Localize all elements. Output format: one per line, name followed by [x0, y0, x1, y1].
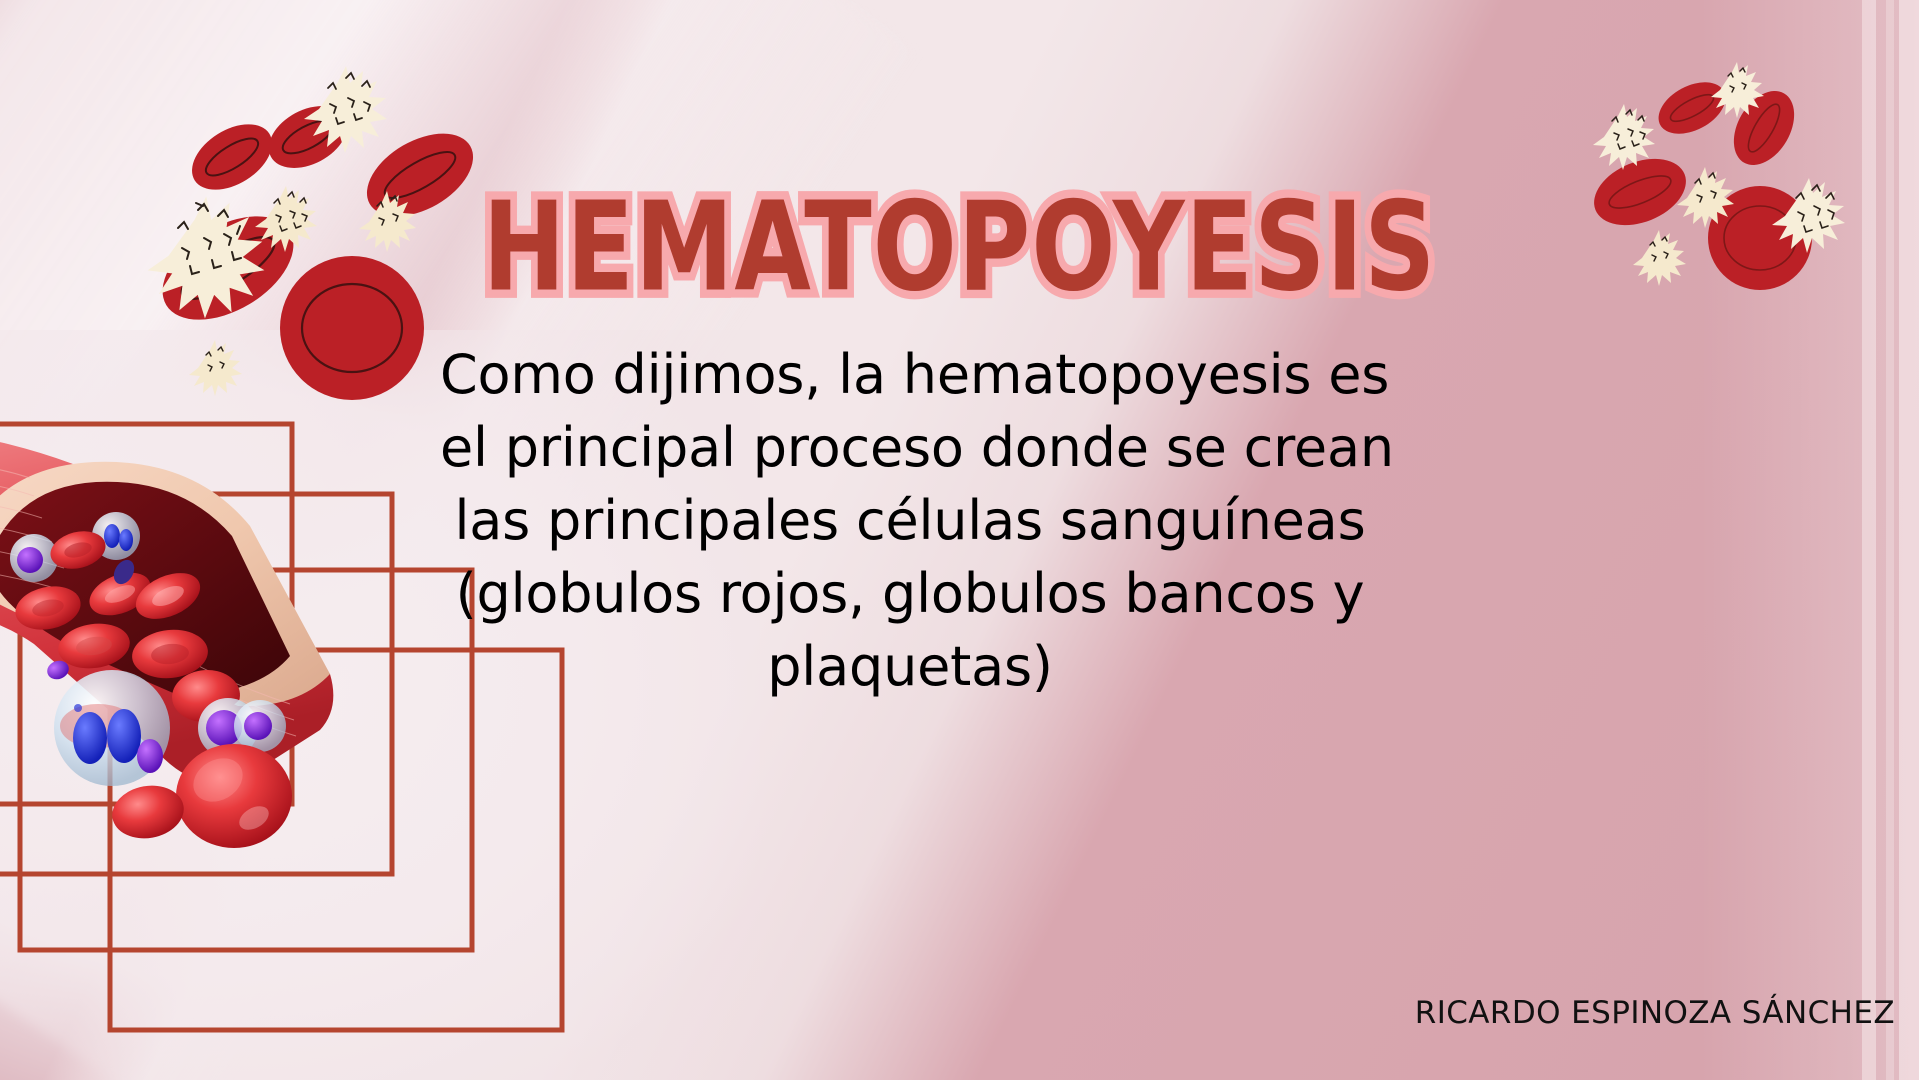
red-blood-cell-foreground	[176, 744, 292, 848]
white-blood-cell-icon	[189, 340, 242, 396]
white-blood-cell-foreground	[54, 670, 170, 786]
white-blood-cell	[10, 534, 58, 582]
page-title: HEMATOPOYESIS	[0, 186, 1919, 309]
body-paragraph: Como dijimos, la hematopoyesis es el pri…	[440, 338, 1380, 703]
body-line: (globulos rojos, globulos bancos y	[440, 557, 1380, 630]
body-line: Como dijimos, la hematopoyesis es	[440, 338, 1380, 411]
body-line: las principales células sanguíneas	[440, 484, 1380, 557]
body-line: plaquetas)	[440, 630, 1380, 703]
blood-vessel-illustration	[0, 408, 498, 868]
red-blood-cell-foreground	[108, 780, 188, 844]
presentation-slide: HEMATOPOYESIS Como dijimos, la hematopoy…	[0, 0, 1919, 1080]
white-blood-cell-foreground	[234, 700, 286, 752]
red-blood-cell-icon	[1650, 72, 1734, 145]
author-footer: RICARDO ESPINOZA SÁNCHEZ	[1415, 995, 1895, 1031]
body-line: el principal proceso donde se crean	[440, 411, 1380, 484]
